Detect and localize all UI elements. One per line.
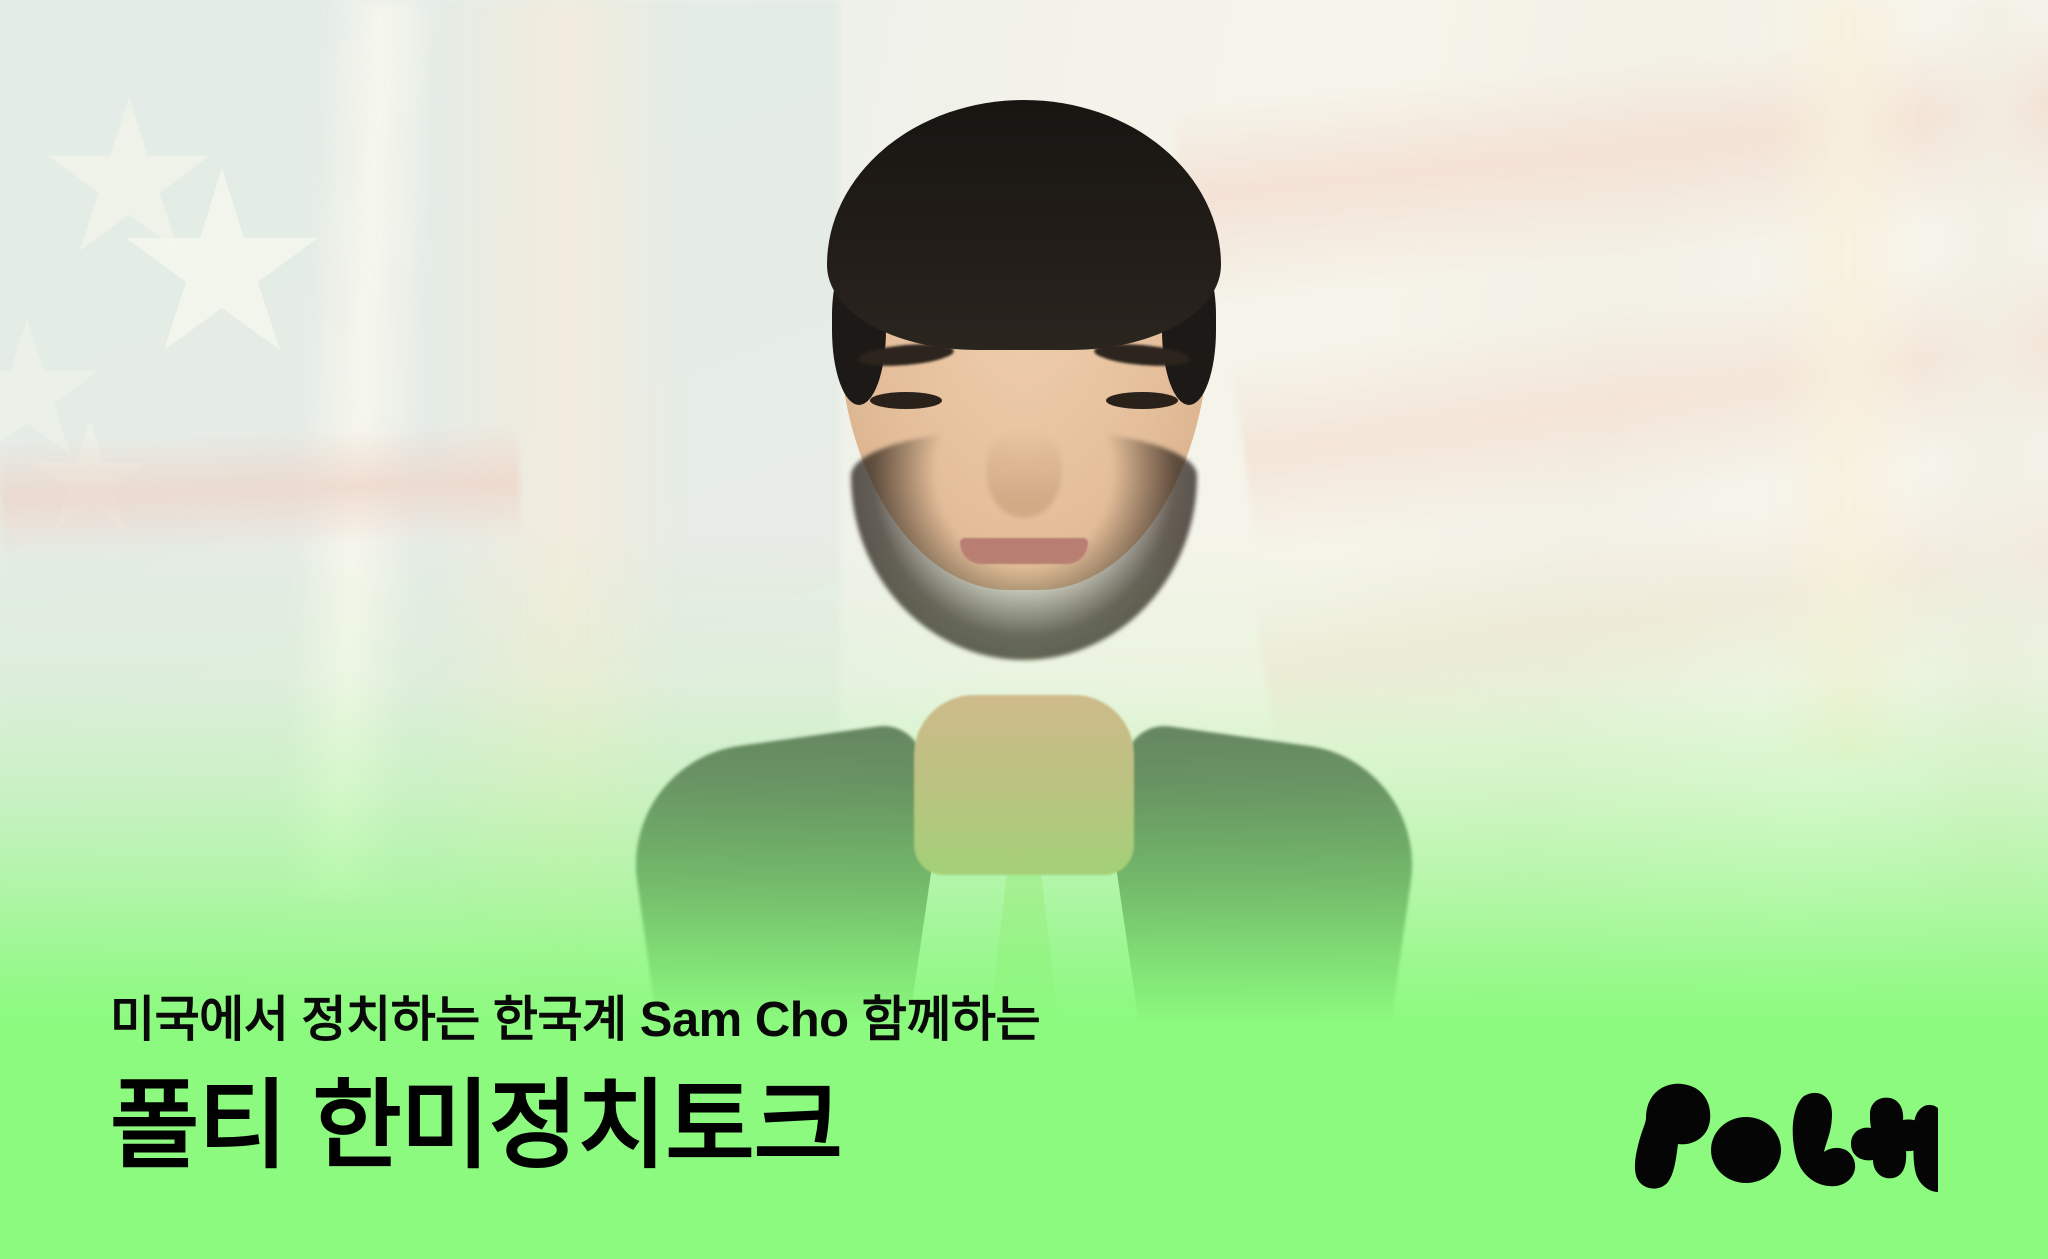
polty-logo[interactable]	[1618, 1074, 1938, 1194]
banner-subtitle: 미국에서 정치하는 한국계 Sam Cho 함께하는	[110, 994, 1510, 1048]
promo-banner: 미국에서 정치하는 한국계 Sam Cho 함께하는 폴티 한미정치토크	[0, 0, 2048, 1259]
polty-logo-icon	[1618, 1074, 1938, 1194]
headline-block: 미국에서 정치하는 한국계 Sam Cho 함께하는 폴티 한미정치토크	[110, 994, 1510, 1179]
banner-title: 폴티 한미정치토크	[110, 1074, 1510, 1179]
